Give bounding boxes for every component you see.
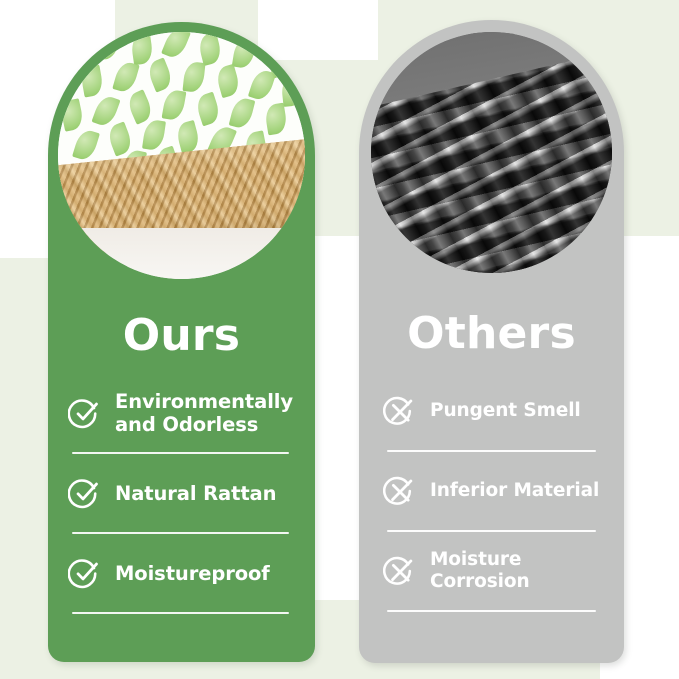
others-feature-label: Pungent Smell: [430, 400, 581, 422]
ours-feature-item: Natural Rattan: [48, 462, 315, 524]
others-divider: [387, 450, 596, 452]
ours-divider: [72, 452, 289, 454]
x-circle-icon: [383, 395, 416, 428]
others-feature-item: Inferior Material: [359, 460, 624, 522]
ours-title: Ours: [48, 314, 315, 358]
others-feature-label: Inferior Material: [430, 480, 599, 502]
others-divider: [387, 530, 596, 532]
panel-ours: Ours Environmentally and Odorless: [48, 22, 315, 662]
others-feature-item: Pungent Smell: [359, 380, 624, 442]
panel-others: Others Pungent Smell: [359, 20, 624, 663]
others-feature-label: Moisture Corrosion: [430, 549, 606, 593]
ours-feature-label: Moistureproof: [115, 562, 270, 585]
check-circle-icon: [68, 397, 101, 430]
others-feature-item: Moisture Corrosion: [359, 540, 624, 602]
ours-feature-item: Moistureproof: [48, 542, 315, 604]
others-divider: [387, 610, 596, 612]
ours-feature-label: Natural Rattan: [115, 482, 276, 505]
others-feature-list: Pungent Smell Inferior Material: [359, 380, 624, 620]
photo-table-surface: [58, 228, 305, 279]
others-title: Others: [359, 312, 624, 356]
x-circle-icon: [383, 555, 416, 588]
ours-divider: [72, 532, 289, 534]
comparison-infographic: Ours Environmentally and Odorless: [0, 0, 679, 679]
check-circle-icon: [68, 477, 101, 510]
ours-feature-item: Environmentally and Odorless: [48, 382, 315, 444]
others-product-photo: [371, 32, 612, 273]
ours-feature-list: Environmentally and Odorless Natural Rat…: [48, 382, 315, 622]
ours-product-photo: [58, 32, 305, 279]
check-circle-icon: [68, 557, 101, 590]
x-circle-icon: [383, 475, 416, 508]
ours-divider: [72, 612, 289, 614]
ours-feature-label: Environmentally and Odorless: [115, 390, 297, 436]
